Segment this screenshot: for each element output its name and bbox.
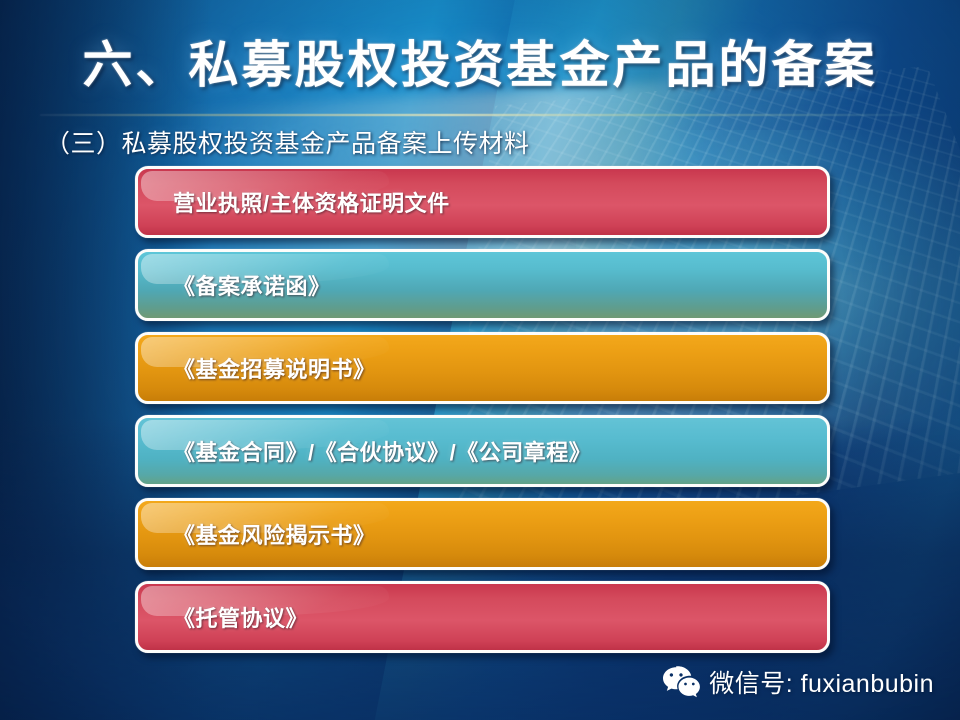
list-item[interactable]: 营业执照/主体资格证明文件	[135, 166, 830, 238]
list-item-label: 《备案承诺函》	[138, 269, 331, 301]
list-item[interactable]: 《基金风险揭示书》	[135, 498, 830, 570]
list-item[interactable]: 《托管协议》	[135, 581, 830, 653]
watermark-text: 微信号: fuxianbubin	[709, 664, 934, 700]
wechat-watermark: 微信号: fuxianbubin	[662, 664, 934, 700]
title-divider-rule	[40, 114, 920, 116]
wechat-icon	[662, 666, 700, 698]
list-item-label: 《基金风险揭示书》	[138, 518, 376, 550]
list-item[interactable]: 《基金合同》/《合伙协议》/《公司章程》	[135, 415, 830, 487]
list-item[interactable]: 《基金招募说明书》	[135, 332, 830, 404]
list-item-label: 营业执照/主体资格证明文件	[138, 186, 450, 218]
list-item-label: 《托管协议》	[138, 601, 308, 633]
slide-canvas: 六、私募股权投资基金产品的备案 （三）私募股权投资基金产品备案上传材料 营业执照…	[0, 0, 960, 720]
list-item-label: 《基金招募说明书》	[138, 352, 376, 384]
slide-subtitle: （三）私募股权投资基金产品备案上传材料	[45, 124, 530, 160]
slide-title: 六、私募股权投资基金产品的备案	[0, 36, 960, 95]
document-checklist: 营业执照/主体资格证明文件 《备案承诺函》 《基金招募说明书》 《基金合同》/《…	[135, 166, 830, 664]
list-item[interactable]: 《备案承诺函》	[135, 249, 830, 321]
list-item-label: 《基金合同》/《合伙协议》/《公司章程》	[138, 435, 591, 467]
